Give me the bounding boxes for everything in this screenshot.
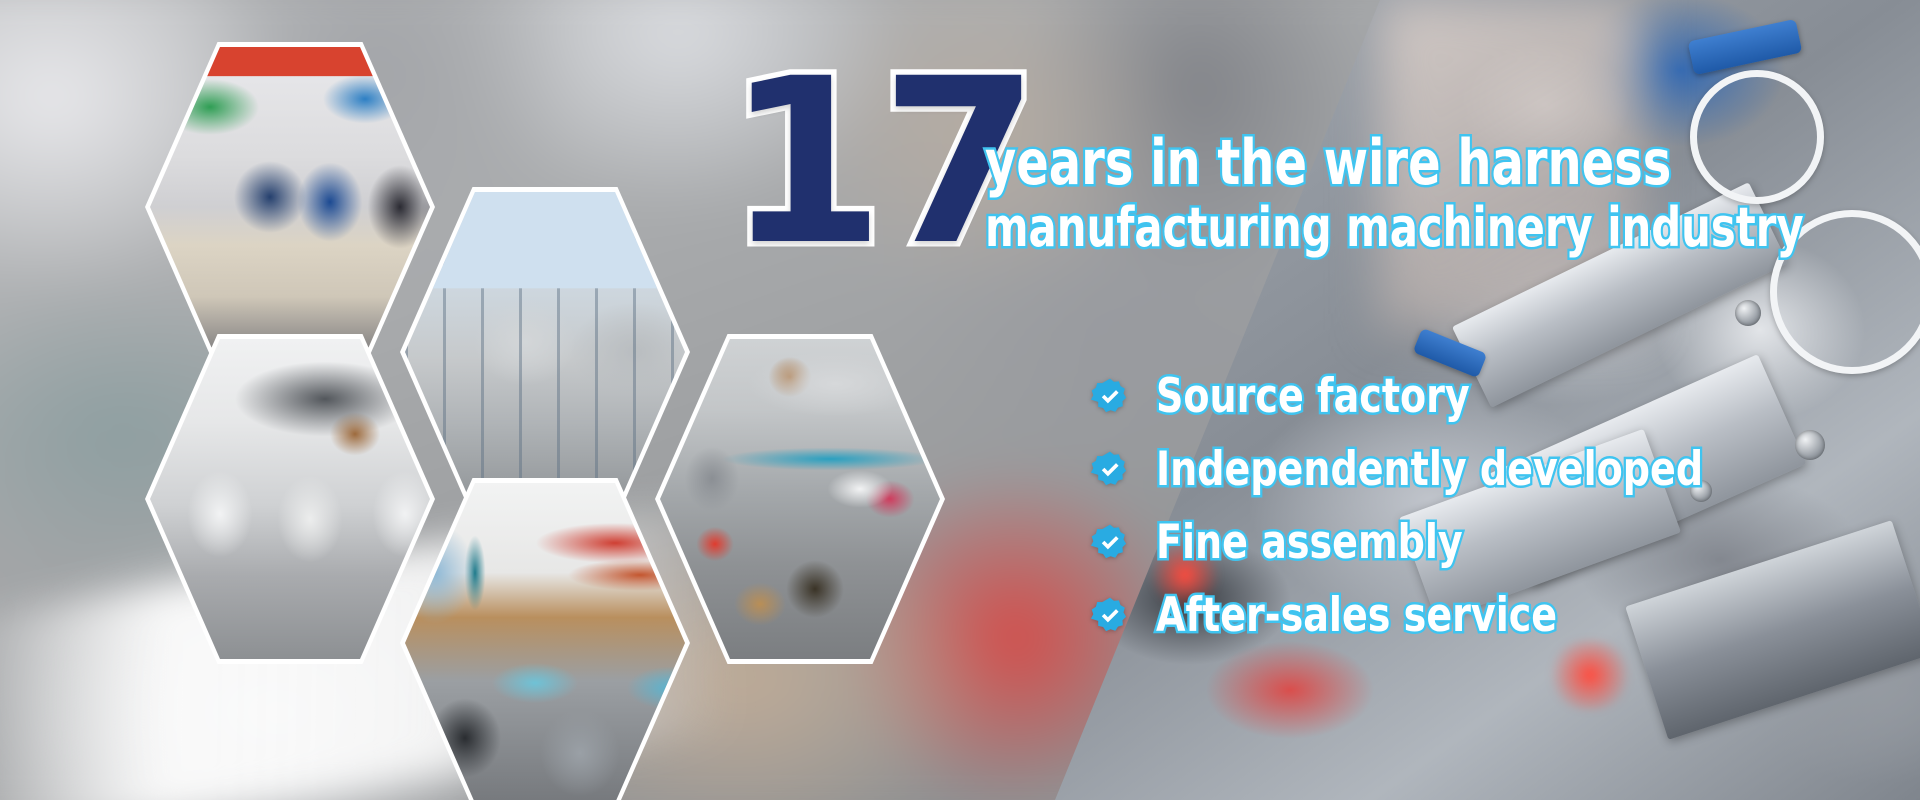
pneumatic-tube-loop-1 xyxy=(1690,70,1824,204)
hex-exhibition-booth[interactable] xyxy=(145,42,435,372)
headline-line-2: manufacturing machinery industry xyxy=(985,196,1804,259)
hex-assembly-bench-photo xyxy=(660,339,940,659)
hex-workshop-machines-photo xyxy=(150,339,430,659)
bolt-2 xyxy=(1795,430,1825,460)
feature-label: After-sales service xyxy=(1156,588,1557,643)
hex-office-photo xyxy=(405,483,685,800)
verified-check-icon xyxy=(1090,596,1130,636)
feature-list: Source factory Independently developed F… xyxy=(1090,360,1764,652)
headline-line-1: years in the wire harness xyxy=(985,126,1671,199)
feature-label: Fine assembly xyxy=(1156,515,1463,570)
bolt-1 xyxy=(1735,300,1761,326)
feature-item-fine-assembly[interactable]: Fine assembly xyxy=(1090,506,1764,579)
banner-root: 17 years in the wire harness manufacturi… xyxy=(0,0,1920,800)
feature-item-source-factory[interactable]: Source factory xyxy=(1090,360,1764,433)
feature-item-after-sales-service[interactable]: After-sales service xyxy=(1090,579,1764,652)
verified-check-icon xyxy=(1090,450,1130,490)
feature-item-independently-developed[interactable]: Independently developed xyxy=(1090,433,1764,506)
hex-workshop-machines[interactable] xyxy=(145,334,435,664)
verified-check-icon xyxy=(1090,523,1130,563)
hex-exhibition-booth-photo xyxy=(150,47,430,367)
hex-machine-hall[interactable] xyxy=(400,187,690,517)
hex-machine-hall-photo xyxy=(405,192,685,512)
feature-label: Independently developed xyxy=(1156,442,1703,497)
feature-label: Source factory xyxy=(1156,369,1470,424)
hex-assembly-bench[interactable] xyxy=(655,334,945,664)
hex-office[interactable] xyxy=(400,478,690,800)
verified-check-icon xyxy=(1090,377,1130,417)
